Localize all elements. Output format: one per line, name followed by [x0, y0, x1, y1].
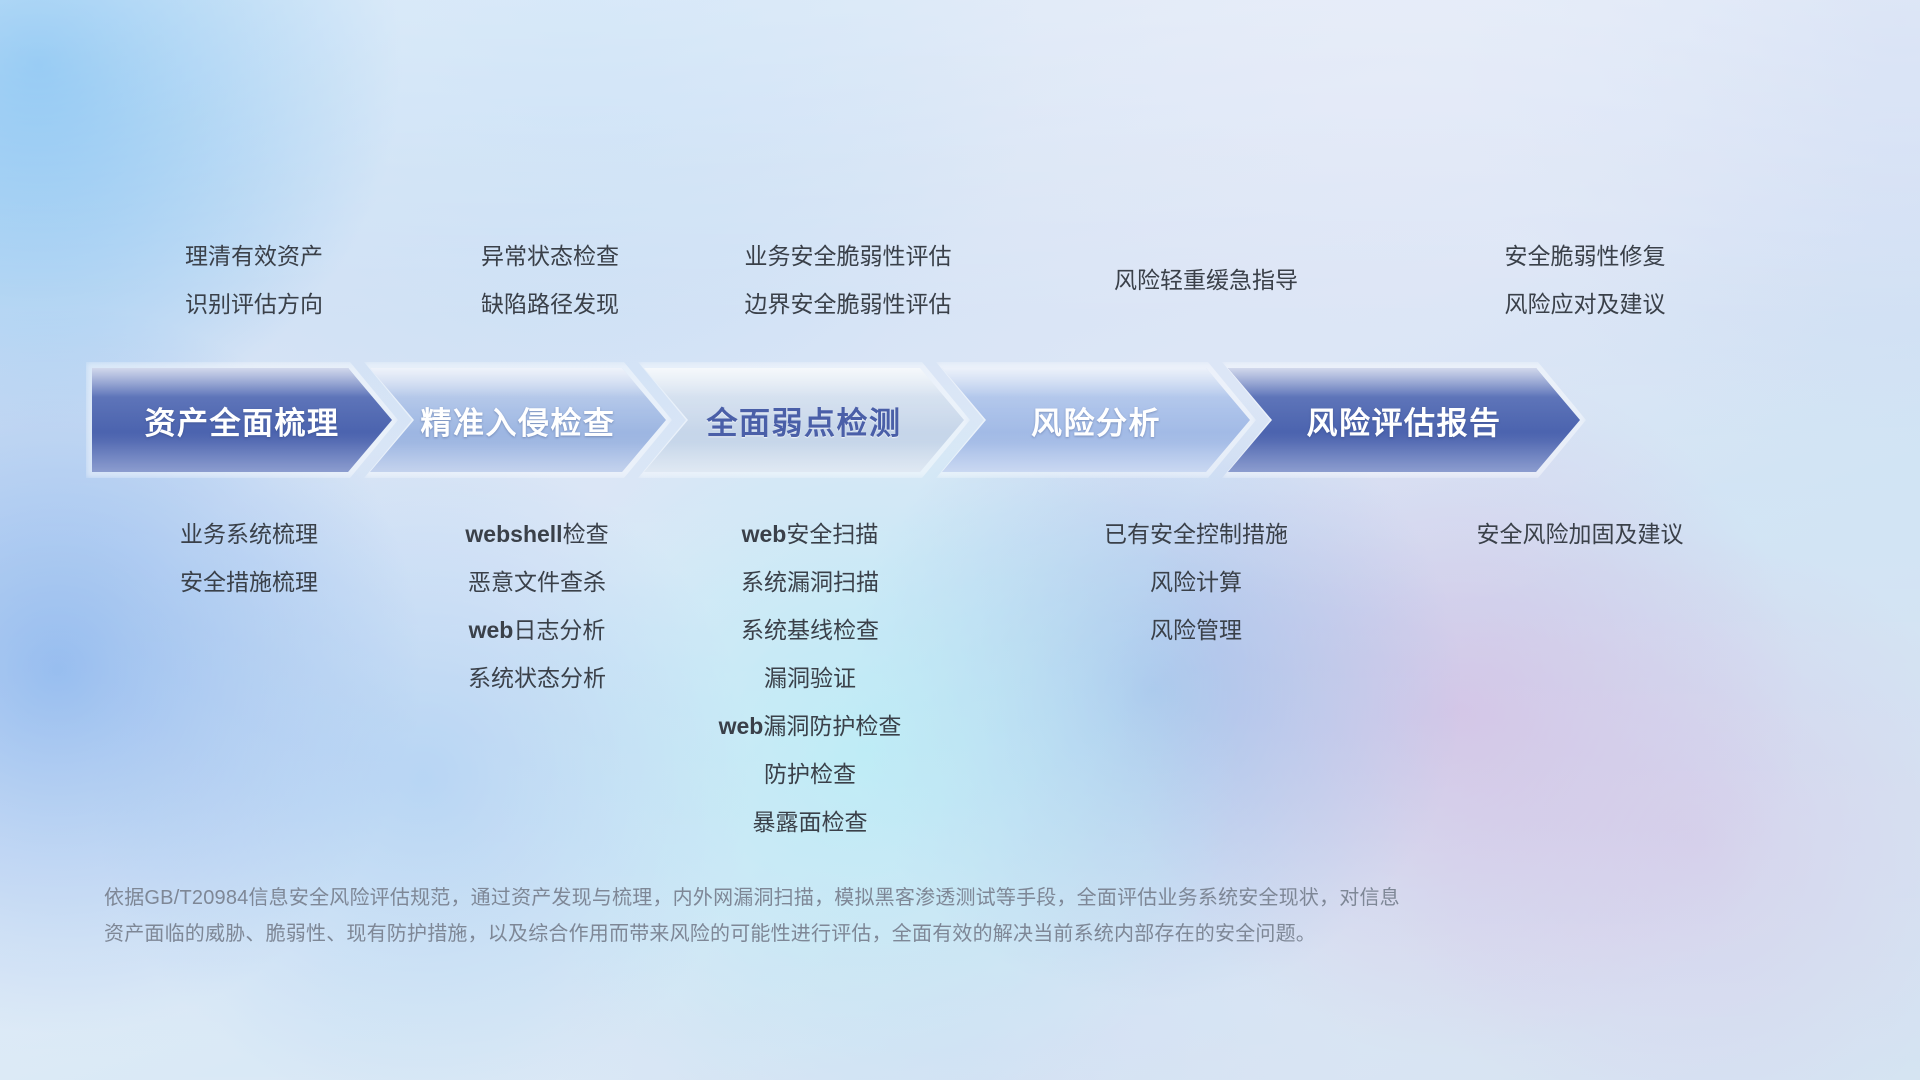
top-label: 异常状态检查: [400, 232, 700, 280]
bottom-label: 暴露面检查: [660, 798, 960, 846]
top-label: 缺陷路径发现: [400, 280, 700, 328]
top-labels-stage-4: 风险轻重缓急指导: [1041, 256, 1371, 304]
stage-chevron-band: 资产全面梳理 精准入侵检查 全面弱点检测 风险分析 风险评估报告: [0, 368, 1920, 472]
bottom-label-cjk: 系统漏洞扫描: [741, 569, 879, 595]
top-label: 识别评估方向: [104, 280, 404, 328]
bottom-label-cjk: 系统状态分析: [468, 665, 606, 691]
bottom-label: 系统基线检查: [660, 606, 960, 654]
bottom-label-cjk: 日志分析: [513, 617, 605, 643]
top-label: 边界安全脆弱性评估: [668, 280, 1028, 328]
bottom-label: 已有安全控制措施: [1046, 510, 1346, 558]
stage-title: 精准入侵检查: [421, 398, 616, 443]
bottom-label-cjk: 恶意文件查杀: [468, 569, 606, 595]
bottom-label-cjk: 漏洞防护检查: [763, 713, 901, 739]
top-labels-stage-2: 异常状态检查 缺陷路径发现: [400, 232, 700, 328]
bottom-label-latin: webshell: [465, 521, 562, 547]
top-label: 风险轻重缓急指导: [1041, 256, 1371, 304]
bottom-label: 安全风险加固及建议: [1380, 510, 1780, 558]
stage-chevron-risk-report[interactable]: 风险评估报告: [1228, 368, 1580, 472]
bottom-label-cjk: 安全措施梳理: [180, 569, 318, 595]
bottom-label: 业务系统梳理: [104, 510, 394, 558]
bottom-label-cjk: 业务系统梳理: [180, 521, 318, 547]
bottom-label: 安全措施梳理: [104, 558, 394, 606]
stage-chevron-asset-inventory[interactable]: 资产全面梳理: [92, 368, 392, 472]
bottom-label: webshell检查: [392, 510, 682, 558]
bottom-label: 防护检查: [660, 750, 960, 798]
stage-chevron-intrusion-check[interactable]: 精准入侵检查: [370, 368, 666, 472]
stage-title: 全面弱点检测: [707, 398, 902, 443]
bottom-label-cjk: 系统基线检查: [741, 617, 879, 643]
top-label: 安全脆弱性修复: [1400, 232, 1770, 280]
stage-title: 资产全面梳理: [145, 398, 340, 443]
bottom-label-latin: web: [742, 521, 787, 547]
bottom-label-latin: web: [469, 617, 514, 643]
footer-line: 依据GB/T20984信息安全风险评估规范，通过资产发现与梳理，内外网漏洞扫描，…: [104, 880, 1804, 916]
top-labels-stage-1: 理清有效资产 识别评估方向: [104, 232, 404, 328]
bottom-label: 风险管理: [1046, 606, 1346, 654]
top-label: 风险应对及建议: [1400, 280, 1770, 328]
bottom-label: 恶意文件查杀: [392, 558, 682, 606]
bottom-label: 系统漏洞扫描: [660, 558, 960, 606]
top-label: 业务安全脆弱性评估: [668, 232, 1028, 280]
bottom-label: web安全扫描: [660, 510, 960, 558]
top-labels-stage-3: 业务安全脆弱性评估 边界安全脆弱性评估: [668, 232, 1028, 328]
bottom-label-cjk: 检查: [563, 521, 609, 547]
bottom-label-cjk: 暴露面检查: [753, 809, 868, 835]
bottom-labels-stage-2: webshell检查 恶意文件查杀 web日志分析 系统状态分析: [392, 510, 682, 702]
bottom-label-cjk: 安全扫描: [786, 521, 878, 547]
bottom-label-cjk: 漏洞验证: [764, 665, 856, 691]
bottom-labels-stage-4: 已有安全控制措施 风险计算 风险管理: [1046, 510, 1346, 654]
process-diagram: 理清有效资产 识别评估方向 异常状态检查 缺陷路径发现 业务安全脆弱性评估 边界…: [0, 0, 1920, 1080]
bottom-label: 系统状态分析: [392, 654, 682, 702]
footer-description: 依据GB/T20984信息安全风险评估规范，通过资产发现与梳理，内外网漏洞扫描，…: [104, 880, 1804, 952]
bottom-labels-stage-3: web安全扫描 系统漏洞扫描 系统基线检查 漏洞验证 web漏洞防护检查 防护检…: [660, 510, 960, 846]
bottom-label: 漏洞验证: [660, 654, 960, 702]
bottom-label: web日志分析: [392, 606, 682, 654]
bottom-label-cjk: 防护检查: [764, 761, 856, 787]
bottom-label-cjk: 风险计算: [1150, 569, 1242, 595]
bottom-labels-stage-1: 业务系统梳理 安全措施梳理: [104, 510, 394, 606]
stage-chevron-weakness-detection[interactable]: 全面弱点检测: [644, 368, 964, 472]
footer-line: 资产面临的威胁、脆弱性、现有防护措施，以及综合作用而带来风险的可能性进行评估，全…: [104, 916, 1804, 952]
bottom-label: web漏洞防护检查: [660, 702, 960, 750]
bottom-label-latin: web: [719, 713, 764, 739]
bottom-label: 风险计算: [1046, 558, 1346, 606]
top-labels-stage-5: 安全脆弱性修复 风险应对及建议: [1400, 232, 1770, 328]
stage-title: 风险分析: [1031, 398, 1161, 443]
bottom-label-cjk: 已有安全控制措施: [1104, 521, 1288, 547]
stage-title: 风险评估报告: [1307, 398, 1502, 443]
bottom-labels-stage-5: 安全风险加固及建议: [1380, 510, 1780, 558]
bottom-label-cjk: 安全风险加固及建议: [1477, 521, 1684, 547]
top-label: 理清有效资产: [104, 232, 404, 280]
stage-chevron-risk-analysis[interactable]: 风险分析: [942, 368, 1250, 472]
bottom-label-cjk: 风险管理: [1150, 617, 1242, 643]
